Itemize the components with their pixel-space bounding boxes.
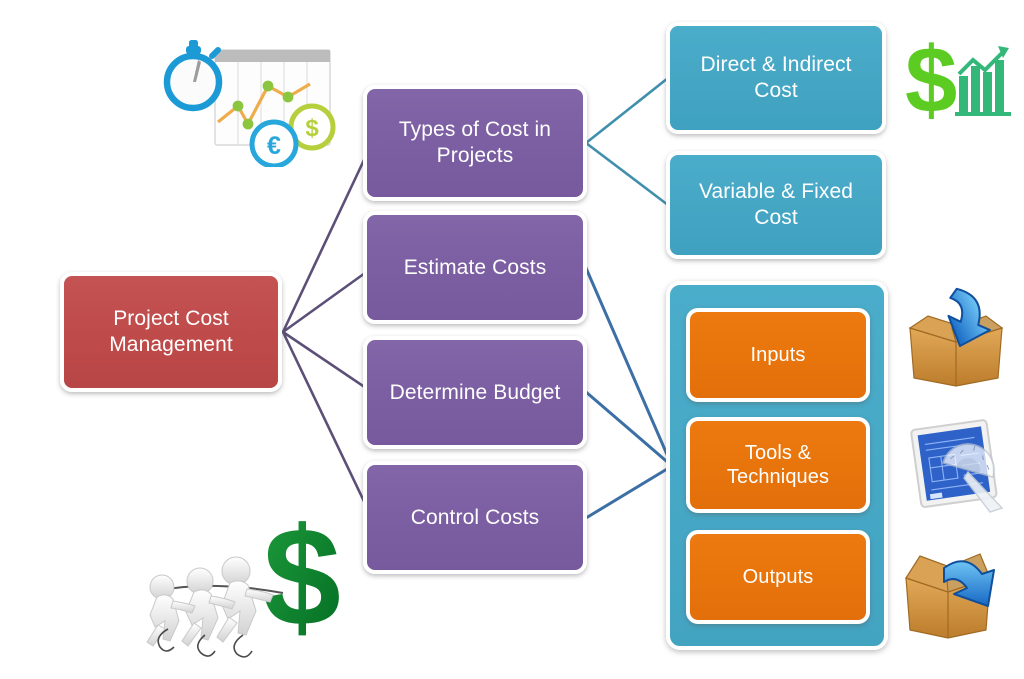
node-label: Tools & Techniques bbox=[700, 441, 856, 490]
box-arrow-in-icon bbox=[902, 282, 1010, 388]
svg-text:$: $ bbox=[305, 115, 319, 142]
node-label: Direct & Indirect Cost bbox=[680, 52, 872, 103]
box-arrow-out-icon bbox=[902, 534, 1010, 644]
node-tools-and-techniques[interactable]: Tools & Techniques bbox=[686, 417, 870, 513]
node-variable-fixed-cost[interactable]: Variable & Fixed Cost bbox=[666, 151, 886, 259]
node-label: Project Cost Management bbox=[109, 306, 233, 357]
node-label: Inputs bbox=[750, 343, 805, 367]
link-root-to-estimate bbox=[283, 268, 372, 332]
dollar-growth-chart-icon: $ bbox=[903, 30, 1015, 126]
svg-text:€: € bbox=[267, 132, 281, 160]
node-types-of-cost-in-projects[interactable]: Types of Cost in Projects bbox=[363, 85, 587, 201]
node-inputs[interactable]: Inputs bbox=[686, 308, 870, 402]
people-pulling-dollar-icon: $ bbox=[135, 495, 360, 660]
link-root-to-types bbox=[283, 143, 372, 332]
link-root-to-control bbox=[283, 332, 372, 518]
ito-group-frame: Inputs Tools & Techniques Outputs bbox=[666, 281, 888, 650]
link-control-to-ito bbox=[586, 466, 672, 518]
link-budget-to-ito bbox=[586, 392, 672, 466]
node-label: Variable & Fixed Cost bbox=[680, 179, 872, 230]
node-estimate-costs[interactable]: Estimate Costs bbox=[363, 211, 587, 324]
node-direct-indirect-cost[interactable]: Direct & Indirect Cost bbox=[666, 22, 886, 134]
diagram-canvas: $ € $ $ bbox=[0, 0, 1024, 679]
node-determine-budget[interactable]: Determine Budget bbox=[363, 336, 587, 449]
link-root-to-budget bbox=[283, 332, 372, 392]
node-label: Outputs bbox=[743, 565, 814, 589]
node-project-cost-management[interactable]: Project Cost Management bbox=[60, 272, 282, 392]
node-label: Control Costs bbox=[411, 505, 540, 531]
link-types-to-variable bbox=[586, 143, 668, 205]
svg-text:$: $ bbox=[263, 498, 341, 655]
svg-text:$: $ bbox=[905, 30, 957, 126]
node-outputs[interactable]: Outputs bbox=[686, 530, 870, 624]
node-label: Types of Cost in Projects bbox=[377, 117, 573, 168]
node-label: Determine Budget bbox=[390, 380, 561, 406]
link-types-to-direct bbox=[586, 78, 668, 143]
node-label: Estimate Costs bbox=[404, 255, 547, 281]
blueprint-protractor-icon bbox=[906, 412, 1010, 518]
link-estimate-to-ito bbox=[586, 268, 672, 466]
stopwatch-chart-currency-icon: $ € bbox=[160, 22, 340, 167]
node-control-costs[interactable]: Control Costs bbox=[363, 461, 587, 574]
